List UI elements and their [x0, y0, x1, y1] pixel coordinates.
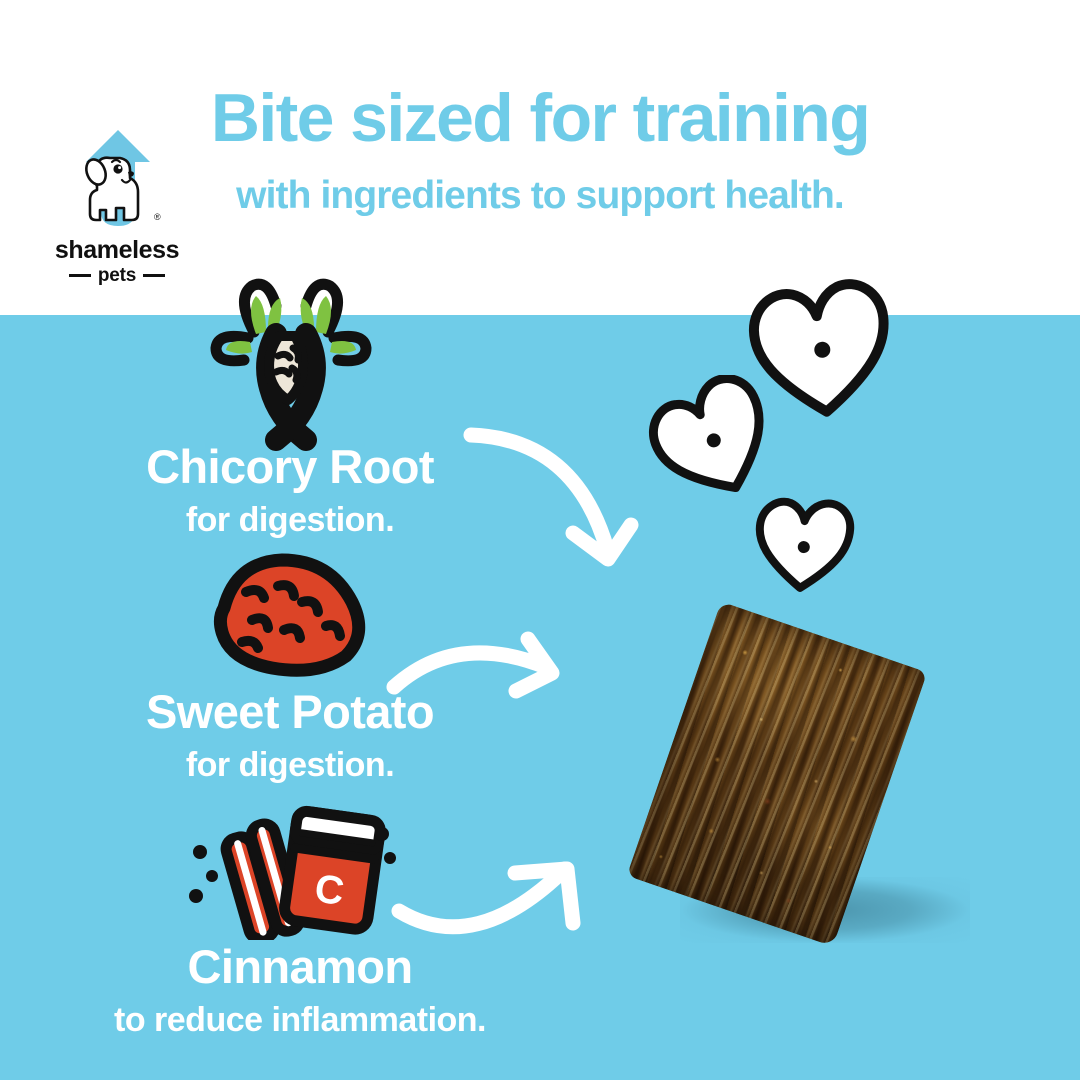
cinnamon-jar-icon: C — [186, 800, 396, 945]
product-treat-image — [640, 625, 1000, 955]
brand-subwordmark: pets — [52, 266, 182, 285]
heart-icon-medium — [645, 375, 780, 508]
brand-sub-label: pets — [98, 266, 136, 285]
brand-wordmark: shameless — [52, 238, 182, 263]
cinnamon-jar-letter: C — [312, 866, 347, 914]
curved-arrow-down-right-icon — [455, 415, 655, 580]
chicory-root-icon — [196, 272, 386, 457]
headline: Bite sized for training — [0, 84, 1080, 152]
sweet-potato-icon — [206, 548, 376, 688]
ingredient-benefit-cinnamon: to reduce inflammation. — [70, 1003, 530, 1037]
logo-rule-right — [143, 274, 165, 277]
promo-graphic: ® shameless pets Bite sized for training… — [0, 0, 1080, 1080]
ingredient-benefit-chicory-root: for digestion. — [60, 503, 520, 537]
logo-rule-left — [69, 274, 91, 277]
heart-icon-small — [748, 492, 858, 601]
curved-arrow-right-icon — [380, 625, 580, 740]
ingredient-benefit-sweet-potato: for digestion. — [60, 748, 520, 782]
curved-arrow-up-right-icon — [385, 845, 595, 960]
ingredient-name-chicory-root: Chicory Root — [60, 443, 520, 490]
subheadline: with ingredients to support health. — [0, 176, 1080, 215]
